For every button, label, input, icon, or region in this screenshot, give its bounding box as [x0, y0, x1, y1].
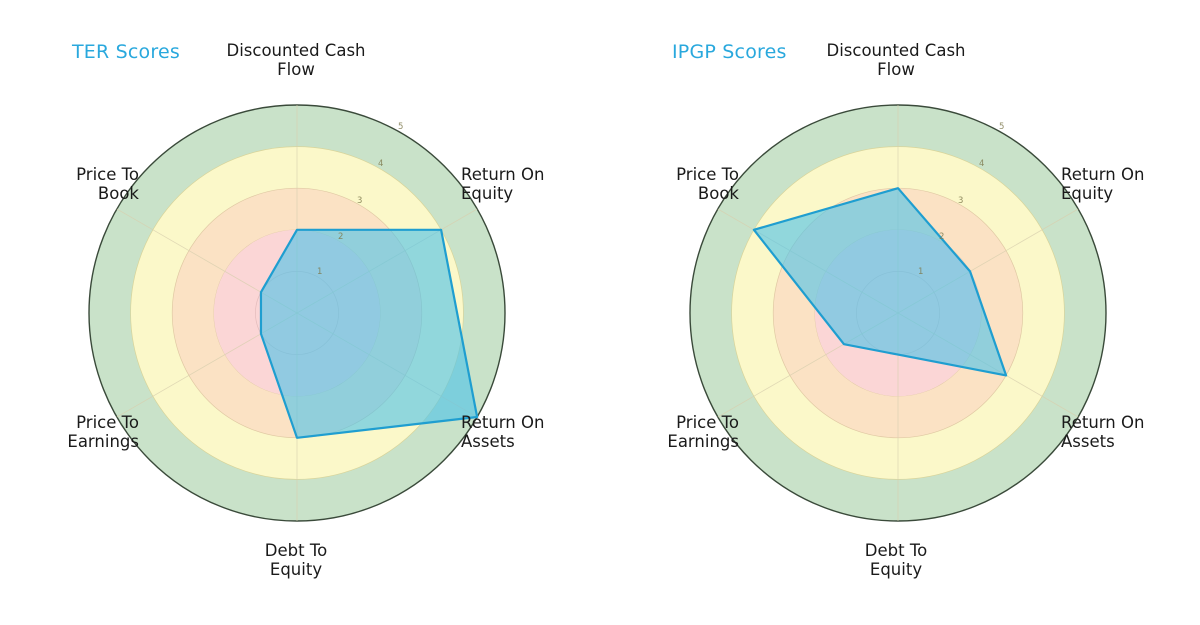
rtick-1: 1 [317, 267, 322, 277]
rtick-1: 1 [918, 267, 923, 277]
series-polygon-ter [261, 230, 477, 438]
axis-label-price-to-book: Price To Book [9, 165, 139, 203]
rtick-3: 3 [357, 196, 362, 206]
axis-label-return-on-assets: Return On Assets [461, 413, 591, 451]
rtick-5: 5 [999, 122, 1004, 132]
rtick-4: 4 [979, 159, 984, 169]
rtick-5: 5 [398, 122, 403, 132]
axis-label-return-on-equity: Return On Equity [1061, 165, 1191, 203]
axis-label-price-to-book: Price To Book [609, 165, 739, 203]
radar-panel-ter: TER Scores [0, 0, 600, 625]
axis-label-debt-to-equity: Debt To Equity [201, 541, 391, 579]
axis-label-debt-to-equity: Debt To Equity [801, 541, 991, 579]
rtick-2: 2 [338, 232, 343, 242]
radar-plot-ipgp [600, 0, 1200, 625]
axis-label-discounted-cash-flow: Discounted Cash Flow [801, 41, 991, 79]
axis-label-return-on-equity: Return On Equity [461, 165, 591, 203]
axis-label-price-to-earnings: Price To Earnings [9, 413, 139, 451]
axis-label-price-to-earnings: Price To Earnings [609, 413, 739, 451]
radar-plot-ter [0, 0, 600, 625]
rtick-2: 2 [939, 232, 944, 242]
axis-label-discounted-cash-flow: Discounted Cash Flow [201, 41, 391, 79]
figure-canvas: TER Scores [0, 0, 1200, 625]
rtick-4: 4 [378, 159, 383, 169]
rtick-3: 3 [958, 196, 963, 206]
axis-label-return-on-assets: Return On Assets [1061, 413, 1191, 451]
radar-panel-ipgp: IPGP Scores [600, 0, 1200, 625]
